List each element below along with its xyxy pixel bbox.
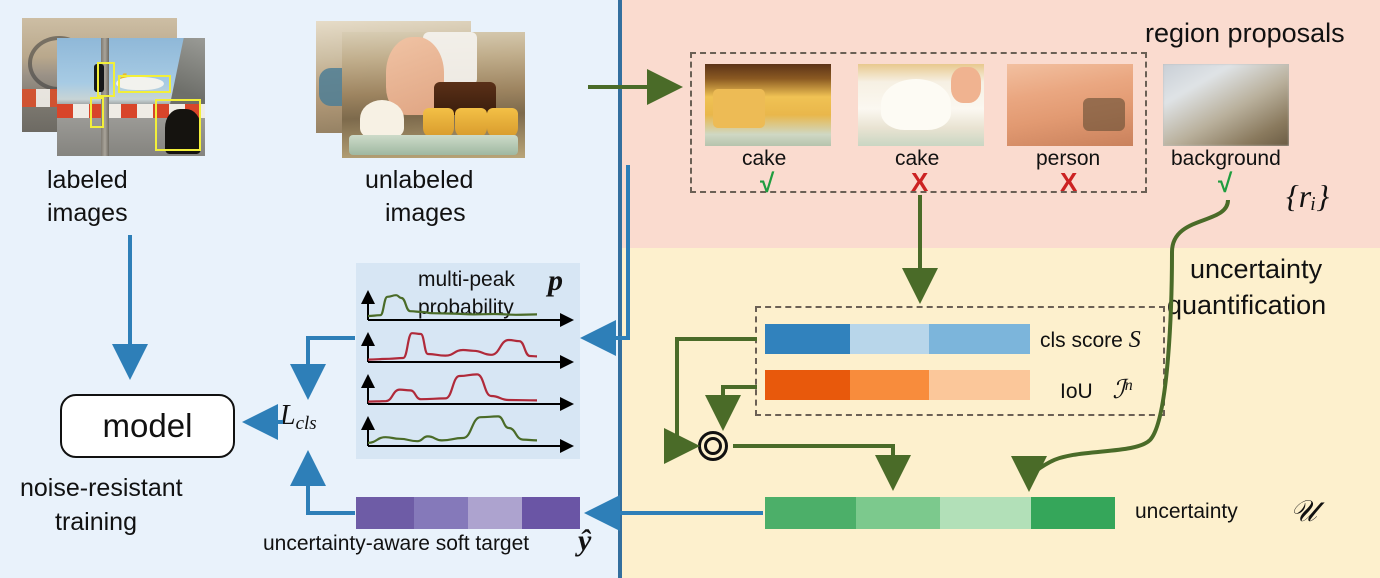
multipeak-panel xyxy=(356,263,580,459)
region-proposal-mark-3: √ xyxy=(1218,168,1232,199)
multipeak-symbol: p xyxy=(548,264,563,298)
bar-segment xyxy=(522,497,580,529)
loss-label: Lcls xyxy=(280,400,317,435)
loss-label-main: L xyxy=(280,400,296,431)
bar-segment xyxy=(929,324,1030,354)
annotation-box-person xyxy=(155,99,201,151)
soft-target-bar xyxy=(356,497,580,529)
bar-segment xyxy=(850,370,930,400)
region-proposal-thumbnail-3 xyxy=(1163,64,1289,146)
bar-segment xyxy=(929,370,1030,400)
bar-segment xyxy=(356,497,414,529)
soft-target-symbol: ŷ xyxy=(578,524,591,558)
labeled-image-thumbnail-front xyxy=(57,38,205,156)
cls-score-label: cls score S xyxy=(1040,327,1141,354)
uncertainty-bar-label: uncertainty xyxy=(1135,500,1238,524)
uncertainty-title-line1: uncertainty xyxy=(1190,254,1322,285)
multipeak-caption-line1: multi-peak xyxy=(418,268,515,292)
fusion-operator-icon xyxy=(698,431,728,461)
panel-divider xyxy=(618,0,622,578)
model-box: model xyxy=(60,394,235,458)
annotation-box-person-small xyxy=(90,97,105,128)
bar-segment xyxy=(850,324,930,354)
annotation-box-airplane xyxy=(118,75,171,94)
figure-root: labeled images unlabeled images model no… xyxy=(0,0,1380,578)
bar-segment xyxy=(414,497,468,529)
bar-segment xyxy=(940,497,1031,529)
unlabeled-images-caption-line1: unlabeled xyxy=(365,166,473,195)
training-caption-line1: noise-resistant xyxy=(20,474,183,503)
bar-segment xyxy=(765,324,850,354)
iou-label-text: IoU xyxy=(1060,380,1093,403)
iou-symbol-superscript: n xyxy=(1125,377,1133,394)
iou-label: IoU ℐn xyxy=(1060,375,1133,405)
labeled-images-caption-line1: labeled xyxy=(47,166,128,195)
region-proposal-thumbnail-2 xyxy=(1007,64,1133,146)
region-proposal-thumbnail-1 xyxy=(858,64,984,146)
uncertainty-bar xyxy=(765,497,1115,529)
bar-segment xyxy=(765,497,856,529)
bar-segment xyxy=(765,370,850,400)
model-label: model xyxy=(103,407,193,445)
cls-score-label-text: cls score xyxy=(1040,329,1123,352)
cls-score-symbol: S xyxy=(1129,327,1141,353)
multipeak-caption-line2: probability xyxy=(418,296,514,320)
loss-label-subscript: cls xyxy=(296,413,317,434)
region-proposal-mark-2: X xyxy=(1060,167,1077,198)
bar-segment xyxy=(468,497,522,529)
soft-target-caption: uncertainty-aware soft target xyxy=(263,532,529,556)
region-proposal-mark-1: X xyxy=(911,167,928,198)
labeled-images-caption-line2: images xyxy=(47,199,128,228)
bar-segment xyxy=(856,497,940,529)
region-proposal-mark-0: √ xyxy=(760,168,774,199)
iou-bar xyxy=(765,370,1030,400)
region-proposal-set-symbol: {rᵢ} xyxy=(1286,178,1329,215)
training-caption-line2: training xyxy=(55,508,137,537)
cls-score-bar xyxy=(765,324,1030,354)
uncertainty-bar-symbol: 𝒰 xyxy=(1290,495,1317,529)
uncertainty-title-line2: quantification xyxy=(1167,290,1326,321)
iou-symbol: ℐ xyxy=(1113,375,1125,404)
unlabeled-image-thumbnail-front xyxy=(342,32,525,158)
region-proposals-title: region proposals xyxy=(1145,18,1345,49)
bar-segment xyxy=(1031,497,1115,529)
region-proposal-thumbnail-0 xyxy=(705,64,831,146)
unlabeled-images-caption-line2: images xyxy=(385,199,466,228)
annotation-box-traffic-light xyxy=(97,62,115,97)
